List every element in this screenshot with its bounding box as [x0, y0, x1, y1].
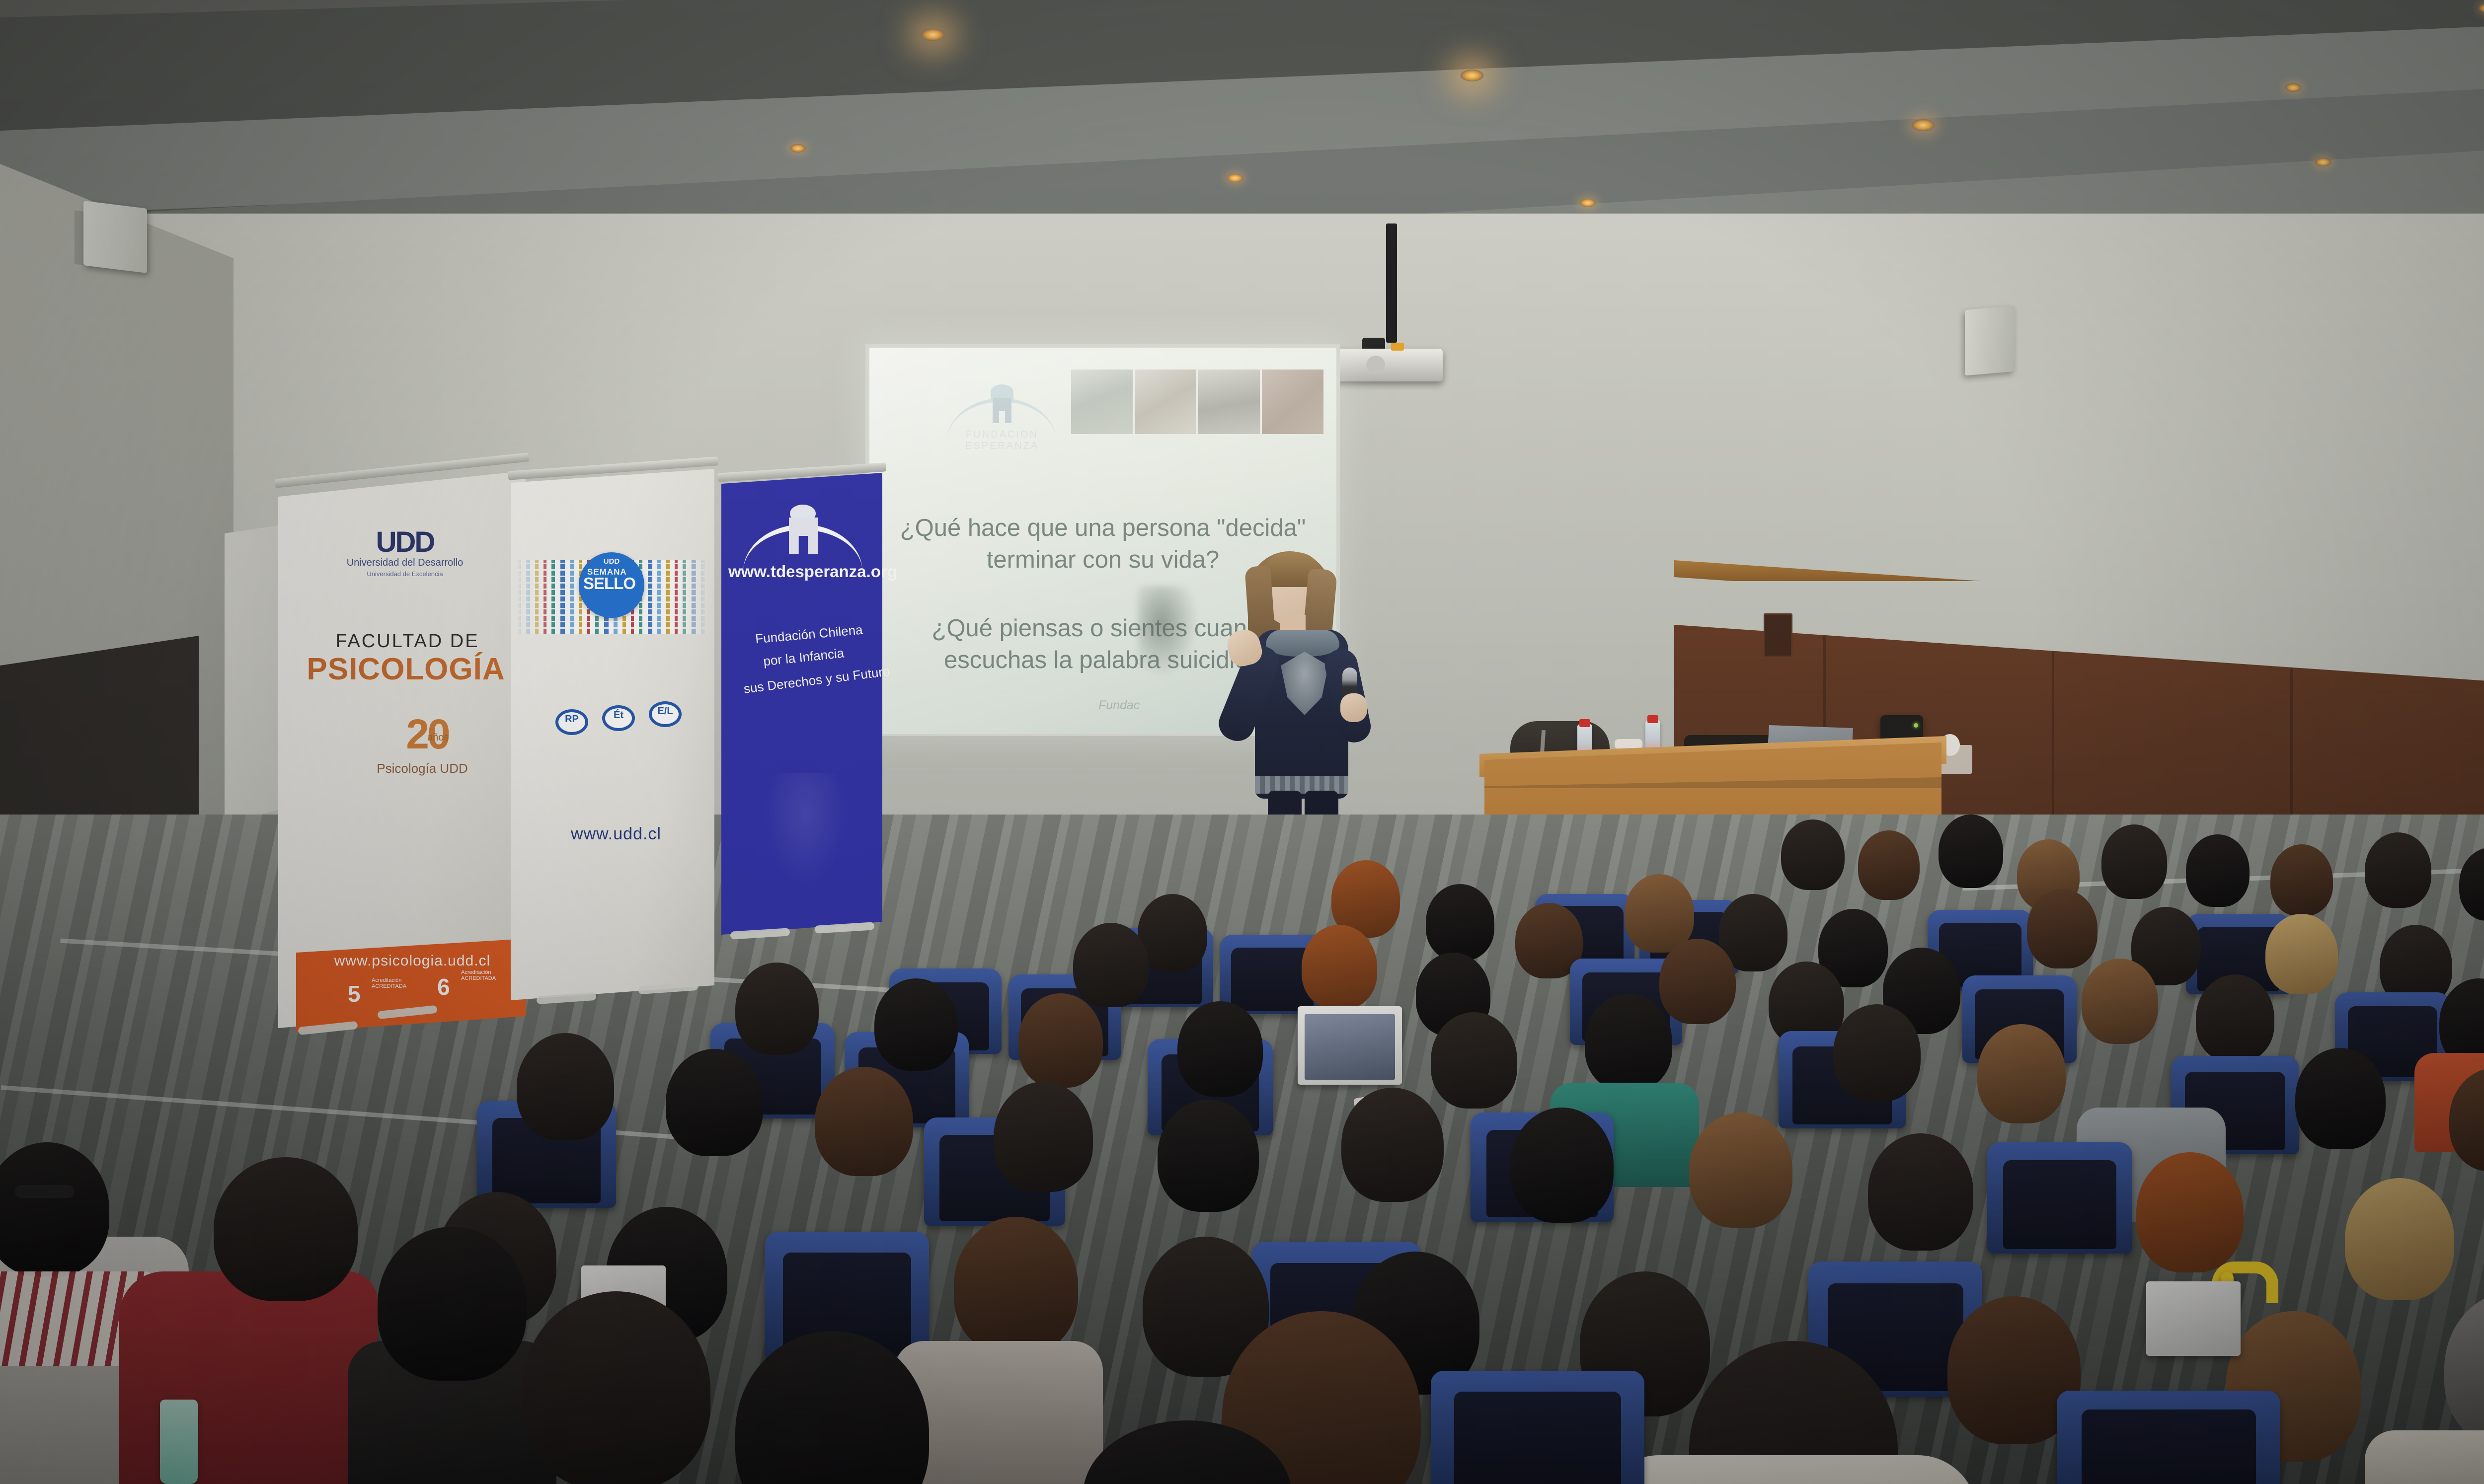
seat[interactable] — [1431, 1371, 1644, 1484]
banner-badge-b-label: Acreditación ACREDITADA — [461, 969, 507, 981]
audience-head — [1177, 1001, 1263, 1097]
projector-mount-pole — [1386, 223, 1397, 343]
slide-signature: Fundac — [1098, 698, 1140, 713]
slide-thumbnail — [1198, 370, 1260, 434]
banner-semana-sello — [511, 469, 714, 1000]
bottle-cap-icon — [1579, 719, 1590, 727]
banner-anniversary-word: años — [427, 732, 449, 743]
audience-head — [1939, 815, 2003, 888]
audience-head — [815, 1067, 913, 1176]
banner-sello-url: www.udd.cl — [561, 824, 671, 844]
banner-tdesperanza-url: www.tdesperanza.org — [728, 562, 877, 581]
audience-head — [522, 1291, 710, 1484]
audience-laptop-2-icon[interactable] — [2146, 1281, 2241, 1356]
projector-lens-icon — [1366, 356, 1385, 374]
audience-head — [2365, 832, 2431, 908]
audience-head — [214, 1157, 358, 1301]
hand-shadow-on-screen — [1138, 586, 1197, 675]
audience-head — [1659, 939, 1736, 1024]
banner-badge-b: 6 — [437, 973, 450, 1000]
tdesperanza-watermark — [763, 773, 848, 887]
audience-laptop-screen — [1305, 1014, 1395, 1080]
semana-sello-word-2: SELLO — [583, 574, 642, 593]
slide-photo-strip — [1071, 370, 1323, 434]
banner-psicologia-line2: PSICOLOGÍA — [304, 652, 508, 687]
eyeglasses-icon — [15, 1185, 75, 1198]
sello-badge-et: Ét — [602, 705, 635, 731]
wall-speaker-left-icon — [83, 201, 147, 273]
bottle-cap-icon — [1647, 715, 1658, 723]
audience-head — [1510, 1108, 1614, 1223]
banner-psicologia-line1: FACULTAD DE — [318, 631, 497, 652]
audience-head — [1431, 1012, 1517, 1109]
audience-head — [1018, 993, 1103, 1088]
audience-head — [1977, 1024, 2066, 1123]
audience-head — [2186, 834, 2250, 907]
audience-head — [1585, 993, 1672, 1091]
audience-head — [2265, 914, 2338, 994]
audience-head — [2082, 959, 2158, 1044]
banner-anniversary-sub: Psicología UDD — [348, 761, 497, 776]
presenter-right-hand — [1340, 693, 1367, 722]
slide-thumbnail — [1135, 370, 1196, 434]
audience-head — [666, 1049, 763, 1156]
sello-badge-el: E/L — [649, 701, 682, 727]
wall-speaker-right-icon — [1965, 306, 2015, 376]
banner-badge-a: 5 — [348, 980, 361, 1007]
audience-head — [1833, 1004, 1921, 1102]
audience-head — [2101, 824, 2167, 899]
banner-badge-a-label: Acreditación ACREDITADA — [372, 977, 417, 989]
semana-sello-udd-mark: UDD — [599, 557, 624, 566]
coffee-cup-lid-icon — [1615, 739, 1642, 749]
audience-head — [1689, 1113, 1792, 1228]
audience-head — [2345, 1178, 2454, 1300]
presenter-collar — [1266, 630, 1339, 657]
audience-body — [2365, 1430, 2484, 1484]
audience-head — [735, 963, 819, 1055]
banner-psicologia-logo-sub: Universidad del Desarrollo — [328, 557, 482, 569]
audience-head — [954, 1217, 1078, 1355]
audience-head — [1158, 1100, 1259, 1212]
audience-head — [2270, 844, 2333, 916]
slide-thumbnail — [1071, 370, 1133, 434]
slide-thumbnail — [1262, 370, 1323, 434]
projector-cable-clip-icon — [1391, 343, 1404, 351]
teal-bottle-icon — [160, 1400, 198, 1484]
audience-body — [1600, 1455, 1977, 1484]
audience-body — [119, 1271, 378, 1484]
audience-head — [1625, 874, 1694, 953]
audience-head — [1426, 884, 1494, 961]
audience-head — [2295, 1048, 2386, 1149]
audience-head — [2196, 974, 2274, 1062]
audience-head — [1341, 1088, 1444, 1202]
auditorium-photo: FUNDACION ESPERANZA ¿Qué hace que una pe… — [0, 0, 2484, 1484]
audience-head — [2027, 889, 2097, 968]
foundation-logo-icon: FUNDACION ESPERANZA — [947, 371, 1056, 436]
audience-head — [1302, 925, 1377, 1009]
sello-badge-rp: RP — [555, 709, 588, 735]
speaker-power-led-icon — [1914, 723, 1918, 728]
audience-head — [874, 978, 958, 1071]
banner-psicologia-logo: UDD — [343, 525, 467, 559]
audience-head — [1781, 819, 1845, 890]
banner-psicologia-logo-sub2: Universidad de Excelencia — [338, 570, 472, 578]
audience-head — [2136, 1152, 2244, 1272]
audience-head — [378, 1227, 527, 1381]
banner-psicologia-url: www.psicologia.udd.cl — [318, 953, 507, 969]
light-switch-plate[interactable] — [1764, 613, 1792, 657]
foundation-logo-text: FUNDACION ESPERANZA — [931, 429, 1073, 452]
audience-head — [994, 1082, 1093, 1192]
audience-head — [1868, 1133, 1973, 1251]
audience-head — [1073, 923, 1149, 1007]
audience-head — [1858, 830, 1920, 900]
audience-head — [517, 1033, 614, 1140]
projector-icon — [1335, 349, 1443, 381]
seat[interactable] — [2057, 1391, 2280, 1484]
seat[interactable] — [1987, 1142, 2132, 1254]
